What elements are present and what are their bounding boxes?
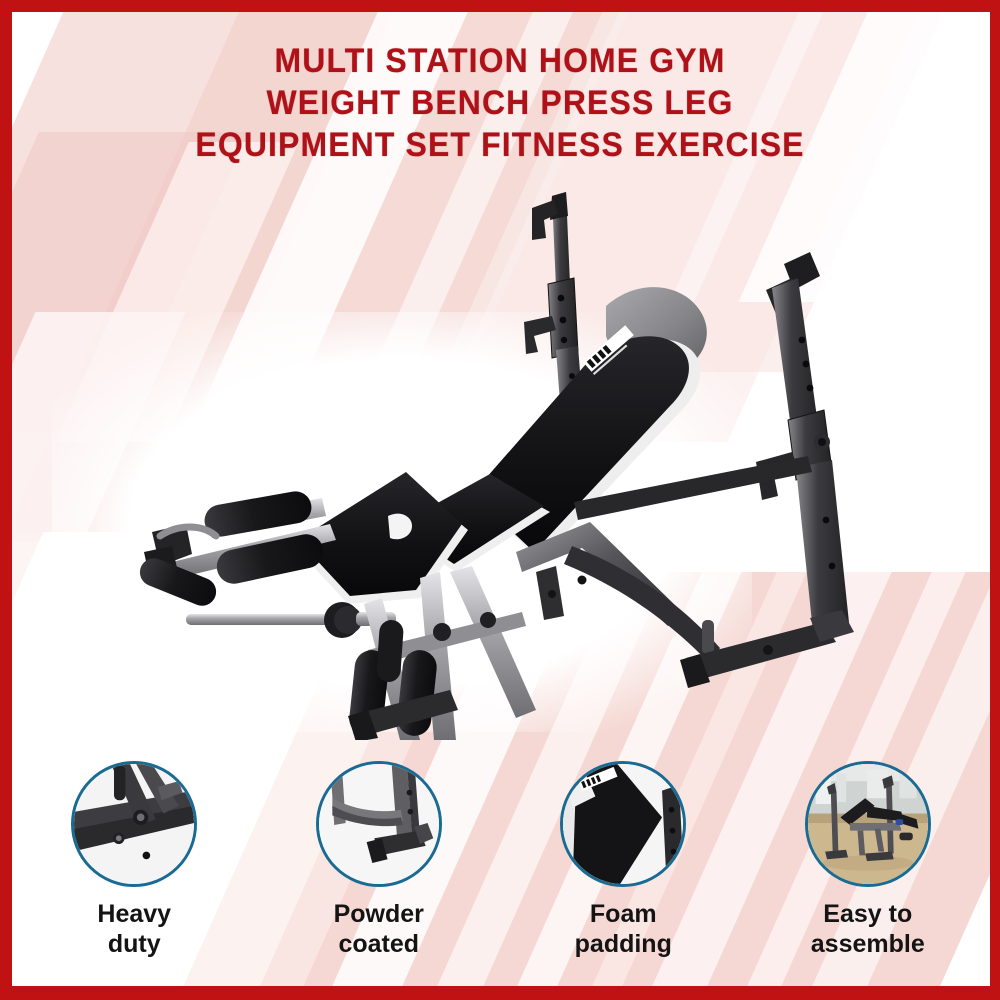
feature-image-powder-coated [316, 761, 442, 887]
feature-image-heavy-duty [71, 761, 197, 887]
feature-label-line1: Easy to [811, 899, 925, 929]
title-line-3: EQUIPMENT SET FITNESS EXERCISE [30, 124, 970, 166]
frame-right-border [990, 0, 1000, 1000]
frame-left-border [0, 0, 12, 1000]
frame-bottom-border [0, 986, 1000, 1000]
feature-label-line1: Heavy [97, 899, 171, 929]
feature-label-powder-coated: Powder coated [334, 899, 424, 959]
feature-easy-to-assemble[interactable]: Easy to assemble [768, 761, 968, 959]
feature-label-line2: duty [97, 929, 171, 959]
feature-row: Heavy duty [12, 761, 990, 976]
weight-post [186, 602, 396, 638]
feature-image-easy-to-assemble [805, 761, 931, 887]
feature-label-easy-to-assemble: Easy to assemble [811, 899, 925, 959]
frame-top-border [0, 0, 1000, 12]
feature-label-foam-padding: Foam padding [575, 899, 672, 959]
front-stabiliser [564, 546, 720, 664]
feature-label-line1: Foam [575, 899, 672, 929]
leg-extension-arm [136, 489, 336, 610]
title-line-2: WEIGHT BENCH PRESS LEG [30, 82, 970, 124]
feature-image-foam-padding [560, 761, 686, 887]
feature-label-line2: assemble [811, 929, 925, 959]
feature-label-line2: padding [575, 929, 672, 959]
feature-heavy-duty[interactable]: Heavy duty [34, 761, 234, 959]
product-poster: MULTI STATION HOME GYM WEIGHT BENCH PRES… [0, 0, 1000, 1000]
rack-upright-front [756, 252, 850, 642]
title-line-1: MULTI STATION HOME GYM [30, 40, 970, 82]
product-image [120, 180, 900, 740]
feature-label-line2: coated [334, 929, 424, 959]
feature-foam-padding[interactable]: Foam padding [523, 761, 723, 959]
page-title: MULTI STATION HOME GYM WEIGHT BENCH PRES… [30, 40, 970, 166]
feature-powder-coated[interactable]: Powder coated [279, 761, 479, 959]
feature-label-line1: Powder [334, 899, 424, 929]
feature-label-heavy-duty: Heavy duty [97, 899, 171, 959]
